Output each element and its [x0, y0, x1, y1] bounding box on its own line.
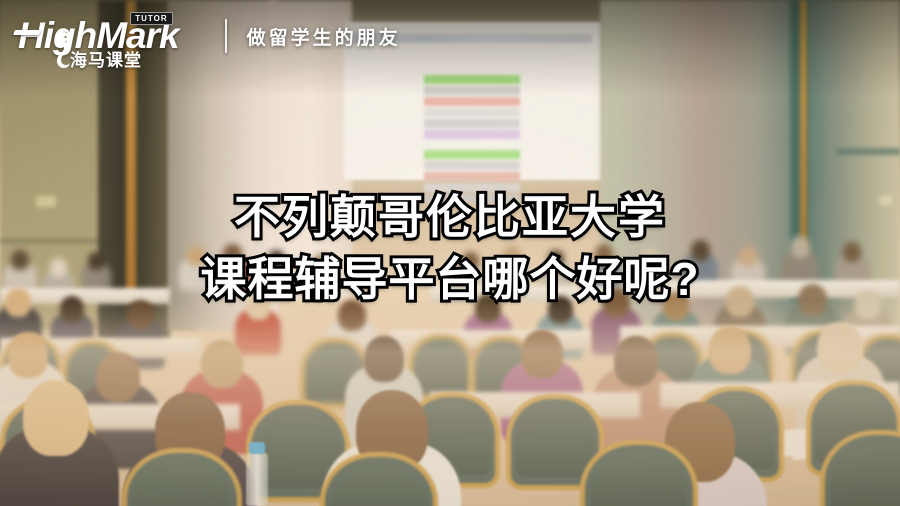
headline-line-2: 课程辅导平台哪个好呢?	[0, 248, 900, 310]
logo-divider	[225, 19, 227, 53]
headline-line-1: 不列颠哥伦比亚大学	[0, 186, 900, 248]
logo-chinese-name: 海马课堂	[70, 46, 142, 71]
logo-slash-accent	[13, 30, 41, 35]
headline-block: 不列颠哥伦比亚大学 课程辅导平台哪个好呢?	[0, 186, 900, 310]
logo-tagline: 做留学生的朋友	[247, 23, 401, 50]
seahorse-icon	[52, 30, 74, 76]
banner-image: HighMark TUTOR 海马课堂 做留学生的朋友 不列颠哥伦比亚大学 课程…	[0, 0, 900, 506]
brand-logo[interactable]: HighMark TUTOR 海马课堂 做留学生的朋友	[18, 16, 401, 56]
tutor-badge: TUTOR	[130, 12, 172, 25]
logo-mark: HighMark TUTOR 海马课堂	[18, 16, 179, 56]
